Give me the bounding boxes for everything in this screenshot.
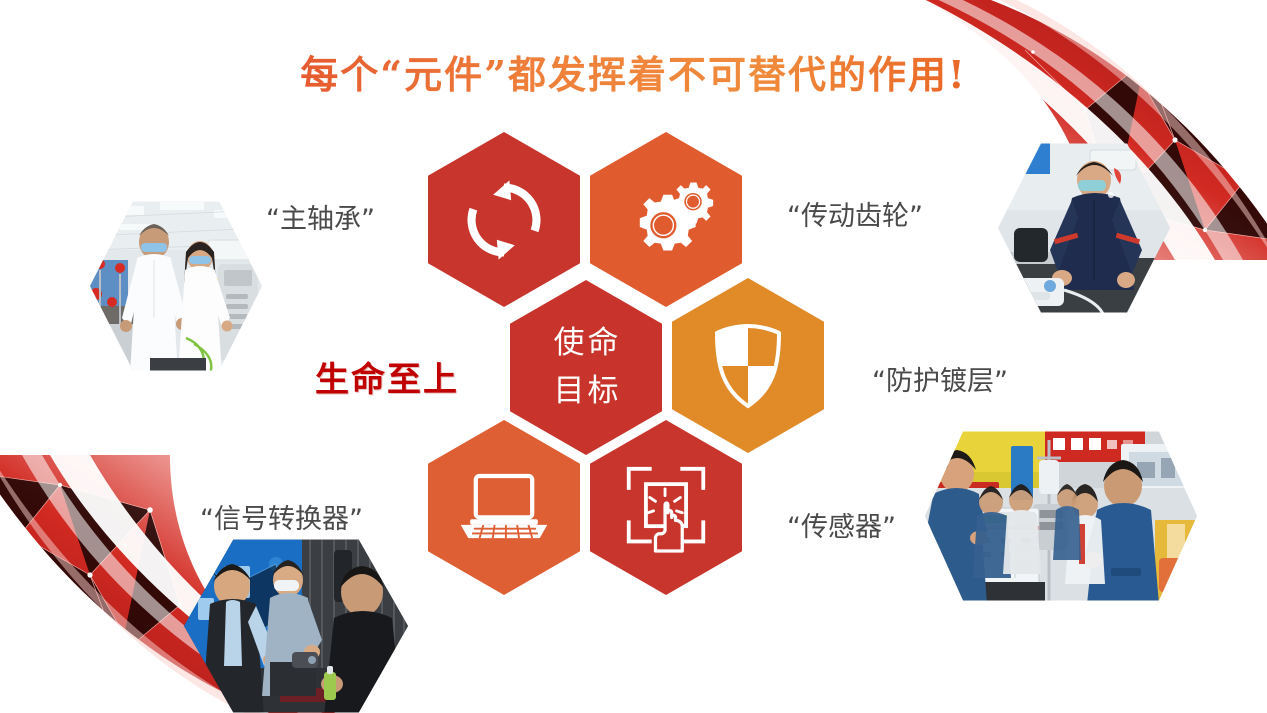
label-sensor: “传感器” [787,505,896,544]
center-hex-line-2: 目标 [551,368,622,415]
label-main-bearing: “主轴承” [266,197,375,236]
laptop-icon [457,472,551,544]
photo-expo-demonstration [925,428,1197,604]
hex-tile-gears[interactable] [590,132,742,307]
hex-tile-shield[interactable] [672,278,824,453]
label-signal-converter: “信号转换器” [200,497,363,536]
center-hex-line-1: 使命 [551,320,622,367]
shield-icon [711,322,785,410]
slide-title: 每个“元件”都发挥着不可替代的作用! [0,44,1267,99]
photo-group-discussion [184,536,408,713]
hex-cluster: 使命 目标 [424,132,794,592]
hex-tile-sync[interactable] [428,132,580,307]
label-transmission-gear: “传动齿轮” [787,194,923,233]
touch-scan-icon [623,463,709,553]
slogan-life-first: 生命至上 [315,352,459,401]
hex-tile-laptop[interactable] [428,420,580,595]
circular-arrows-icon [459,175,549,265]
center-hex-text: 使命 目标 [551,320,622,414]
photo-technician-assembly [998,140,1170,316]
photo-lab-technicians [90,198,262,374]
hex-tile-touch-scan[interactable] [590,420,742,595]
slide-canvas: 每个“元件”都发挥着不可替代的作用! [0,0,1267,713]
hex-tile-center-mission[interactable]: 使命 目标 [510,280,662,455]
gears-icon [618,174,714,266]
label-protective-coating: “防护镀层” [872,359,1008,398]
